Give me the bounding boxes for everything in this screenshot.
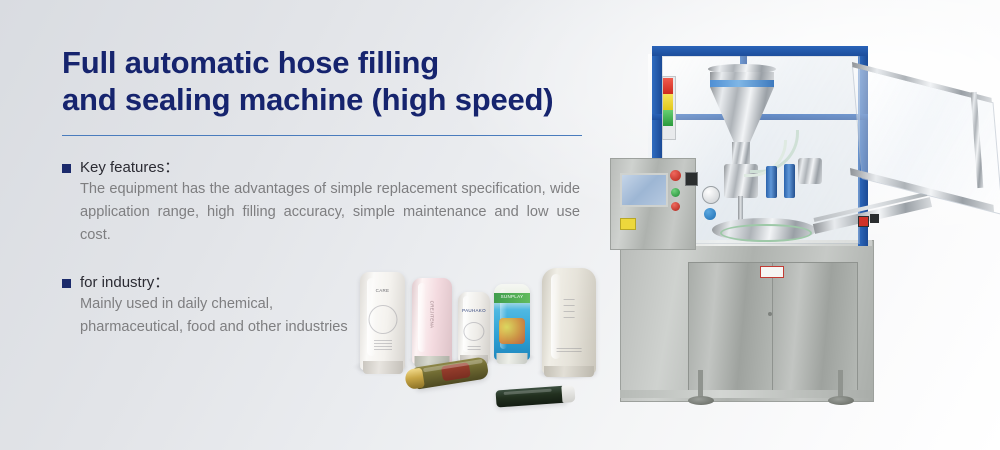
panel-switch[interactable] [685, 172, 698, 186]
title-line-2: and sealing machine (high speed) [62, 81, 602, 118]
tube-text-lines [374, 338, 392, 352]
leveling-foot-pad [828, 396, 854, 405]
leveling-foot-pad [688, 396, 714, 405]
page-title: Full automatic hose filling and sealing … [62, 44, 602, 118]
tube-brand-text: SUNPLAY [501, 294, 524, 299]
tube-highlight [418, 283, 426, 352]
key-features-heading: Key features： [80, 158, 179, 177]
key-features-heading-row: Key features： [62, 158, 602, 177]
green-start-button[interactable] [671, 188, 680, 197]
list-item: SUNPLAY [494, 284, 530, 360]
sealing-head [798, 158, 822, 184]
frame-rail-top [652, 46, 868, 56]
tube-cap [363, 361, 403, 374]
light-red [663, 78, 673, 94]
for-industry-text: Mainly used in daily chemical, pharmaceu… [80, 293, 350, 339]
tube-artwork [499, 318, 525, 344]
title-line-1: Full automatic hose filling [62, 44, 602, 81]
dark-green-tube [495, 386, 568, 408]
pneumatic-cylinder [766, 166, 777, 198]
tube-cap [497, 353, 528, 364]
pneumatic-cylinder [784, 164, 795, 198]
emergency-stop-button[interactable] [670, 170, 681, 181]
key-features-text: The equipment has the advantages of simp… [80, 178, 580, 247]
bullet-square-icon [62, 164, 71, 173]
hopper-blue-collar [710, 80, 774, 87]
safety-warning-label [760, 266, 784, 278]
regulator-knob[interactable] [704, 208, 716, 220]
for-industry-heading: for industry： [80, 273, 169, 292]
list-item [495, 386, 568, 408]
list-item [542, 268, 596, 374]
product-banner: Full automatic hose filling and sealing … [0, 0, 1000, 450]
tube-samples-photo: CARE CREJITENA PAUHAKO [346, 256, 614, 426]
tube-cap [561, 385, 575, 403]
section-key-features: Key features： The equipment has the adva… [62, 158, 602, 247]
cabinet-door-right [772, 262, 858, 392]
tube-text-lines [564, 294, 575, 323]
red-stop-button[interactable] [671, 202, 680, 211]
list-item: CREJITENA [412, 278, 452, 364]
tube-brand-text: PAUHAKO [462, 308, 486, 313]
hmi-touchscreen[interactable] [620, 173, 668, 207]
tube-text-lines [468, 344, 481, 352]
tube-brand-text: CARE [376, 288, 390, 293]
title-divider [62, 135, 582, 136]
tube-cap [544, 366, 594, 377]
conveyor-switch-red[interactable] [858, 216, 869, 227]
list-item: PAUHAKO [458, 292, 490, 362]
tube-text-lines [557, 346, 582, 354]
conveyor-switch-black[interactable] [870, 214, 879, 223]
machine-photo [600, 18, 1000, 418]
list-item: CARE [360, 272, 405, 370]
cabinet-door-handle[interactable] [768, 312, 772, 316]
turntable-green-ring [720, 224, 812, 242]
tube-cap [404, 368, 425, 391]
pressure-gauge [702, 186, 720, 204]
light-yellow [663, 94, 673, 110]
tube-logo-icon [463, 322, 484, 341]
light-green [663, 110, 673, 126]
ce-warning-label [620, 218, 636, 230]
tube-brand-text: CREJITENA [430, 301, 435, 329]
bullet-square-icon [62, 279, 71, 288]
